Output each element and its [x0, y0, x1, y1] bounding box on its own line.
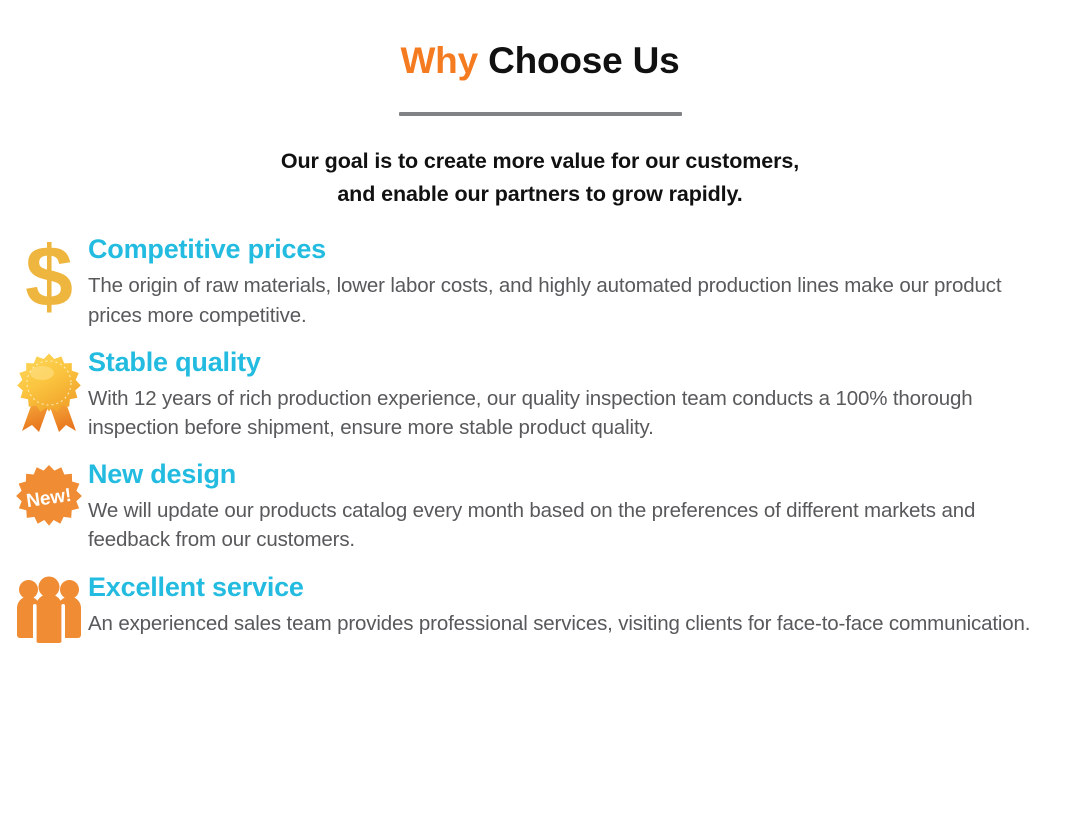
page-title: Why Choose Us [0, 40, 1080, 83]
subtitle-line-1: Our goal is to create more value for our… [0, 145, 1080, 178]
feature-item-competitive-prices: $ Competitive prices The origin of raw m… [10, 234, 1062, 329]
svg-text:$: $ [25, 238, 73, 320]
feature-description: An experienced sales team provides profe… [88, 609, 1043, 638]
feature-body: Excellent service An experienced sales t… [88, 572, 1062, 638]
page-title-rest: Choose Us [488, 40, 679, 81]
feature-description: We will update our products catalog ever… [88, 496, 1043, 554]
feature-body: New design We will update our products c… [88, 459, 1062, 554]
title-divider [399, 112, 682, 116]
feature-body: Stable quality With 12 years of rich pro… [88, 347, 1062, 442]
new-burst-icon: New! [10, 459, 88, 545]
feature-description: With 12 years of rich production experie… [88, 384, 1043, 442]
feature-title: Excellent service [88, 572, 1062, 602]
feature-item-new-design: New! New design We will update our produ… [10, 459, 1062, 554]
people-group-icon [10, 572, 88, 658]
page-title-accent: Why [400, 40, 478, 81]
feature-title: Stable quality [88, 347, 1062, 377]
feature-title: New design [88, 459, 1062, 489]
feature-title: Competitive prices [88, 234, 1062, 264]
feature-item-excellent-service: Excellent service An experienced sales t… [10, 572, 1062, 658]
feature-list: $ Competitive prices The origin of raw m… [0, 234, 1080, 657]
award-badge-icon [10, 347, 88, 433]
dollar-sign-icon: $ [10, 234, 88, 320]
subtitle-line-2: and enable our partners to grow rapidly. [0, 178, 1080, 211]
why-choose-us-section: Why Choose Us Our goal is to create more… [0, 0, 1080, 818]
section-subtitle: Our goal is to create more value for our… [0, 145, 1080, 212]
feature-description: The origin of raw materials, lower labor… [88, 271, 1043, 329]
feature-item-stable-quality: Stable quality With 12 years of rich pro… [10, 347, 1062, 442]
section-header: Why Choose Us Our goal is to create more… [0, 0, 1080, 211]
feature-body: Competitive prices The origin of raw mat… [88, 234, 1062, 329]
